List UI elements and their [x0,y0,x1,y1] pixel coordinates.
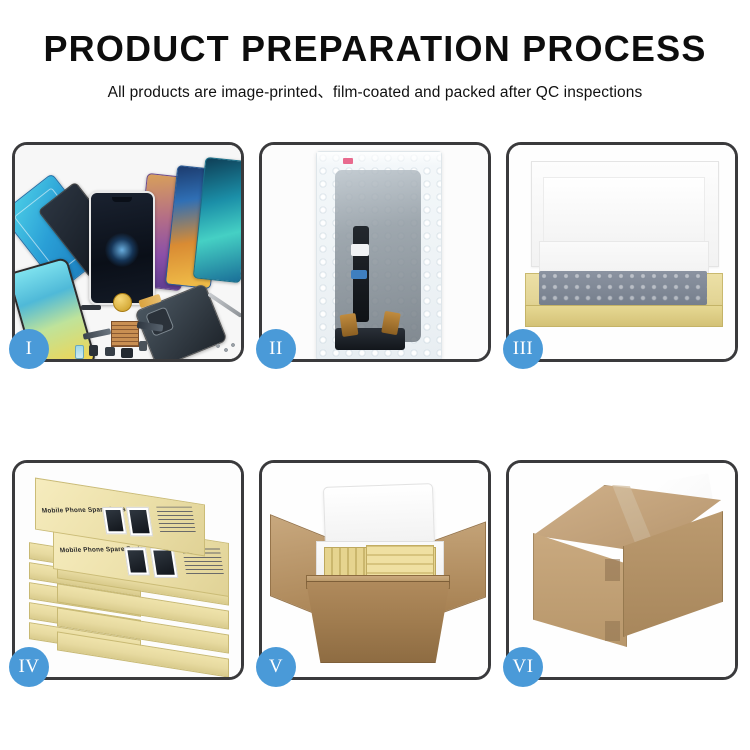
bag-seal-seam [317,152,441,166]
page-subtitle: All products are image-printed、film-coat… [0,80,750,102]
product-preparation-infographic: PRODUCT PREPARATION PROCESS All products… [0,0,750,750]
step-image-iv: Mobile Phone Spare Parts Mobile Phone Sp… [15,463,241,677]
yellow-box-front-panel [525,305,723,327]
header: PRODUCT PREPARATION PROCESS All products… [0,0,750,102]
screws-group [215,343,237,355]
box-spec-text-lines [156,507,195,532]
step-image-v [262,463,488,677]
step-panel-vi: VI [506,460,738,680]
grey-bubble-wrap-content [539,271,707,305]
box-artwork-thumb [102,507,127,534]
steps-grid: I II [12,142,738,680]
step-badge-vi: VI [503,647,543,687]
carton-body [306,581,450,663]
small-component-4 [139,341,147,351]
step-panel-i: I [12,142,244,362]
box-artwork-thumb [124,547,150,575]
gold-coil-part [113,293,132,312]
step-image-i [15,145,241,359]
copper-grid-part [111,321,139,347]
adhesive-tape-left [340,313,359,337]
box-artwork-thumb [150,547,178,577]
carton-corner-seam-upper [605,559,620,581]
lcd-driver-chip [351,244,369,256]
pink-sticker [343,158,353,164]
bubble-wrap-bag [316,151,442,359]
step-panel-ii: II [259,142,491,362]
step-badge-iv: IV [9,647,49,687]
step-badge-iii: III [503,329,543,369]
step-panel-iii: III [506,142,738,362]
step-image-ii [262,145,488,359]
step-image-iii [509,145,735,359]
small-component-3 [121,348,133,358]
small-component-2 [105,347,115,356]
black-front-glass-phone [89,191,155,305]
step-badge-i: I [9,329,49,369]
lcd-connector [351,270,367,279]
earpiece-mesh-part [81,305,101,310]
small-component-1 [89,345,98,356]
step-panel-iv: Mobile Phone Spare Parts Mobile Phone Sp… [12,460,244,680]
step-panel-v: V [259,460,491,680]
carton-corner-seam-lower [605,621,620,641]
step-badge-ii: II [256,329,296,369]
box-artwork-thumb [126,507,153,536]
sim-tray-part [75,345,84,359]
retail-box-stack: Mobile Phone Spare Parts Mobile Phone Sp… [23,477,235,677]
step-badge-v: V [256,647,296,687]
step-image-vi [509,463,735,677]
page-title: PRODUCT PREPARATION PROCESS [0,30,750,68]
